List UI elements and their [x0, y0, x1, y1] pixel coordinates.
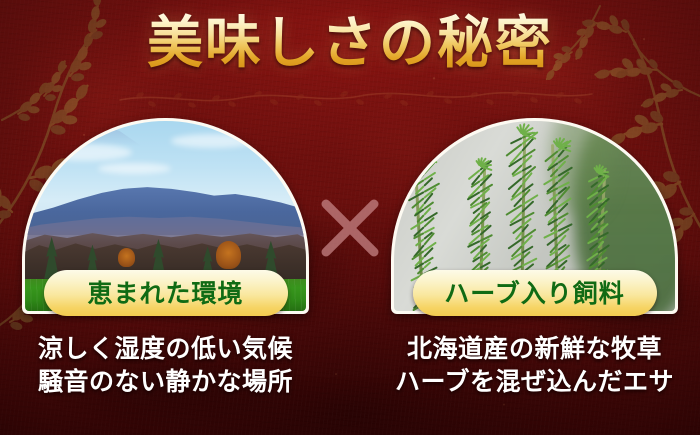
page-title: 美味しさの秘密 [147, 11, 553, 75]
badge-label: ハーブ入り飼料 [444, 281, 625, 306]
caption-herb-feed: 北海道産の新鮮な牧草 ハーブを混ぜ込んだエサ [391, 332, 678, 398]
cloud-shape [171, 134, 255, 147]
caption-environment: 涼しく湿度の低い気候 騒音のない静かな場所 [22, 332, 309, 398]
cloud-shape [36, 144, 132, 161]
panels-container: 恵まれた環境 涼しく湿度の低い気候 騒音のない静かな場所 ハーブ入り飼料 [0, 118, 700, 314]
autumn-tree [216, 241, 241, 270]
caption-line-2: 騒音のない静かな場所 [22, 365, 309, 398]
badge-label: 恵まれた環境 [87, 281, 243, 306]
caption-line-1: 涼しく湿度の低い気候 [22, 332, 309, 365]
cloud-shape [98, 163, 171, 174]
caption-line-1: 北海道産の新鮮な牧草 [391, 332, 678, 365]
poster-root: 美味しさの秘密 [0, 0, 700, 435]
page-title-wrapper: 美味しさの秘密 [0, 11, 700, 75]
panel-environment: 恵まれた環境 涼しく湿度の低い気候 騒音のない静かな場所 [22, 118, 309, 314]
panel-herb-feed: ハーブ入り飼料 北海道産の新鮮な牧草 ハーブを混ぜ込んだエサ [391, 118, 678, 314]
autumn-tree [118, 248, 135, 267]
badge-herb-feed: ハーブ入り飼料 [413, 270, 657, 316]
caption-line-2: ハーブを混ぜ込んだエサ [391, 365, 678, 398]
badge-environment: 恵まれた環境 [44, 270, 288, 316]
